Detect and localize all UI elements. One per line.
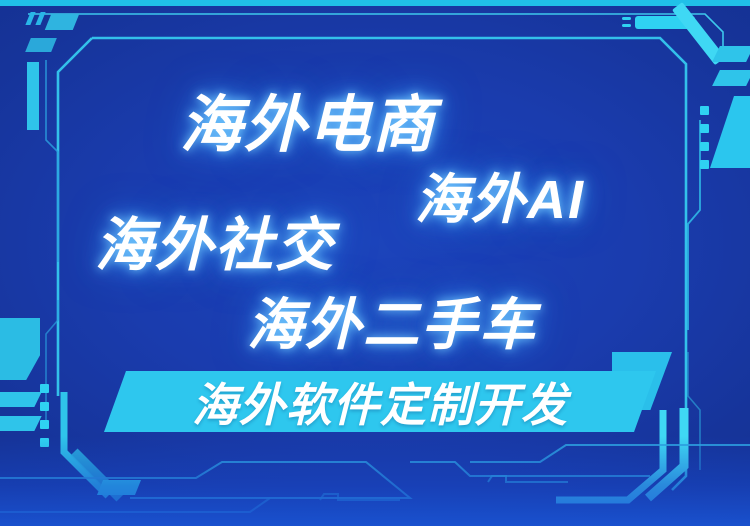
poster-canvas: 海外电商 海外AI 海外社交 海外二手车 海外软件定制开发	[0, 0, 750, 526]
software-dev-banner[interactable]: 海外软件定制开发	[104, 371, 656, 432]
headline-ecommerce: 海外电商	[180, 74, 436, 164]
headline-ai: 海外AI	[415, 155, 585, 234]
headline-social: 海外社交	[95, 198, 335, 282]
headline-usedcar: 海外二手车	[247, 280, 537, 361]
headline-stack: 海外电商 海外AI 海外社交 海外二手车	[0, 0, 750, 526]
banner-label: 海外软件定制开发	[104, 371, 656, 432]
